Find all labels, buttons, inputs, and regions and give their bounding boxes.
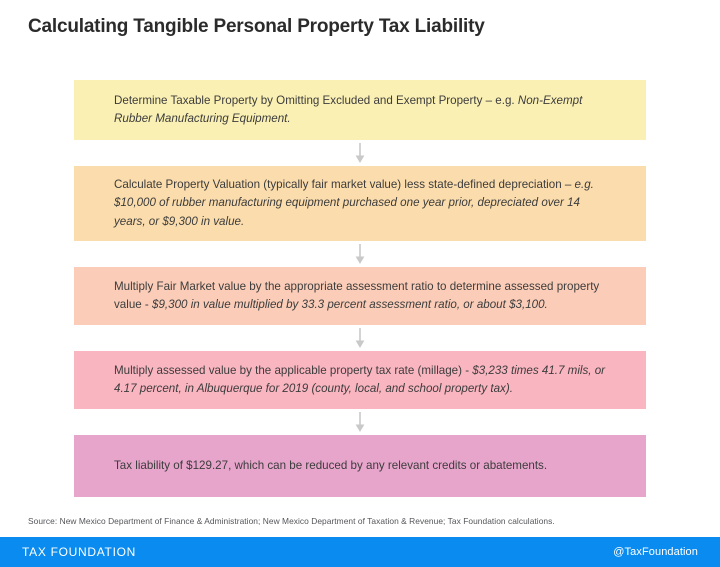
step-4-text: Multiply assessed value by the applicabl… <box>114 362 608 399</box>
step-1-text: Determine Taxable Property by Omitting E… <box>114 92 608 129</box>
step-3-italic-text: $9,300 in value multiplied by 33.3 perce… <box>152 298 548 311</box>
connector-2 <box>74 241 646 267</box>
step-multiply-by-assessment-ratio: Multiply Fair Market value by the approp… <box>74 267 646 325</box>
source-note: Source: New Mexico Department of Finance… <box>28 516 555 526</box>
step-3-text: Multiply Fair Market value by the approp… <box>114 278 608 315</box>
step-4-plain-text: Multiply assessed value by the applicabl… <box>114 364 472 377</box>
step-2-text: Calculate Property Valuation (typically … <box>114 176 608 231</box>
connector-3 <box>74 325 646 351</box>
step-tax-liability-result: Tax liability of $129.27, which can be r… <box>74 435 646 497</box>
down-arrow-icon <box>353 142 367 164</box>
step-calculate-property-valuation: Calculate Property Valuation (typically … <box>74 166 646 241</box>
step-5-plain-text: Tax liability of $129.27, which can be r… <box>114 459 547 472</box>
step-2-plain-text: Calculate Property Valuation (typically … <box>114 178 575 191</box>
step-determine-taxable-property: Determine Taxable Property by Omitting E… <box>74 80 646 140</box>
step-multiply-by-millage-rate: Multiply assessed value by the applicabl… <box>74 351 646 409</box>
step-5-text: Tax liability of $129.27, which can be r… <box>114 457 547 475</box>
footer-social-handle[interactable]: @TaxFoundation <box>613 546 698 558</box>
down-arrow-icon <box>353 411 367 433</box>
down-arrow-icon <box>353 327 367 349</box>
footer-bar: TAX FOUNDATION @TaxFoundation <box>0 537 720 567</box>
down-arrow-icon <box>353 243 367 265</box>
flowchart: Determine Taxable Property by Omitting E… <box>74 80 646 497</box>
page-title: Calculating Tangible Personal Property T… <box>28 16 485 38</box>
connector-4 <box>74 409 646 435</box>
connector-1 <box>74 140 646 166</box>
step-1-plain-text: Determine Taxable Property by Omitting E… <box>114 94 515 107</box>
footer-brand-label: TAX FOUNDATION <box>22 545 136 559</box>
infographic-page: Calculating Tangible Personal Property T… <box>0 0 720 567</box>
